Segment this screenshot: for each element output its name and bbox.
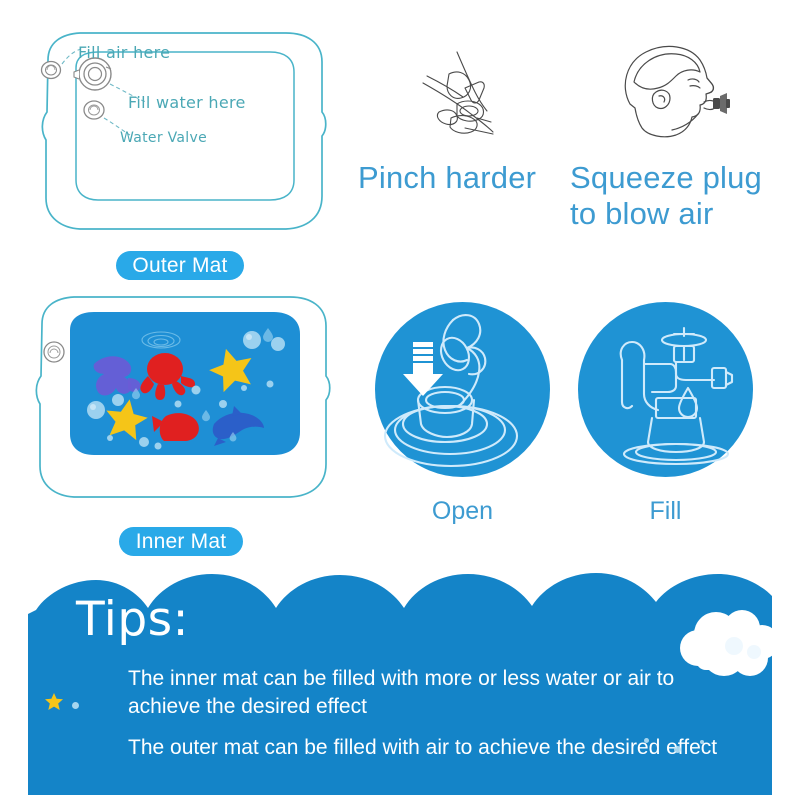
pill-inner-mat: Inner Mat xyxy=(119,527,243,556)
hand-pinching-valve-icon xyxy=(405,48,535,148)
inner-mat-drawing xyxy=(18,292,348,517)
tips-title: Tips: xyxy=(76,592,189,647)
inner-mat-diagram xyxy=(18,292,348,517)
decor-dot-4 xyxy=(700,740,704,744)
tips-line-1: The inner mat can be filled with more or… xyxy=(128,665,728,721)
caption-pinch-harder: Pinch harder xyxy=(358,161,536,196)
squeeze-plug-illustration xyxy=(612,42,737,147)
caption-squeeze-plug-line1: Squeeze plug xyxy=(570,161,762,196)
label-water-valve: Water Valve xyxy=(120,130,207,146)
tips-line-2: The outer mat can be filled with air to … xyxy=(128,734,728,762)
open-valve-arrow-icon xyxy=(375,302,550,477)
inner-mat-valve-icon xyxy=(44,342,64,362)
water-valve-small-icon xyxy=(84,101,104,119)
caption-open: Open xyxy=(375,497,550,526)
small-star-icon xyxy=(44,692,64,712)
caption-squeeze-plug-line2: to blow air xyxy=(570,197,714,232)
decor-dot-2 xyxy=(644,738,649,743)
pill-inner-mat-label: Inner Mat xyxy=(136,530,227,554)
infographic-canvas: Fill air here Fill water here Water Valv… xyxy=(0,0,800,800)
decor-dot-1 xyxy=(72,702,79,709)
plug-icon xyxy=(713,93,730,114)
label-fill-air-here: Fill air here xyxy=(78,43,170,62)
step-fill-badge xyxy=(578,302,753,477)
pill-outer-mat-label: Outer Mat xyxy=(132,254,227,278)
faucet-filling-valve-icon xyxy=(578,302,753,477)
head-blowing-plug-icon xyxy=(612,42,737,147)
tips-banner: Tips: The inner mat can be filled with m… xyxy=(28,570,772,795)
step-open-badge xyxy=(375,302,550,477)
cloud-icon xyxy=(676,606,772,688)
pill-outer-mat: Outer Mat xyxy=(116,251,244,280)
caption-fill: Fill xyxy=(578,497,753,526)
label-fill-water-here: Fill water here xyxy=(128,93,246,112)
air-valve-edge-icon xyxy=(42,62,61,79)
decor-dot-3 xyxy=(674,746,681,753)
pinch-harder-illustration xyxy=(405,48,535,148)
tips-body: The inner mat can be filled with more or… xyxy=(128,665,728,775)
